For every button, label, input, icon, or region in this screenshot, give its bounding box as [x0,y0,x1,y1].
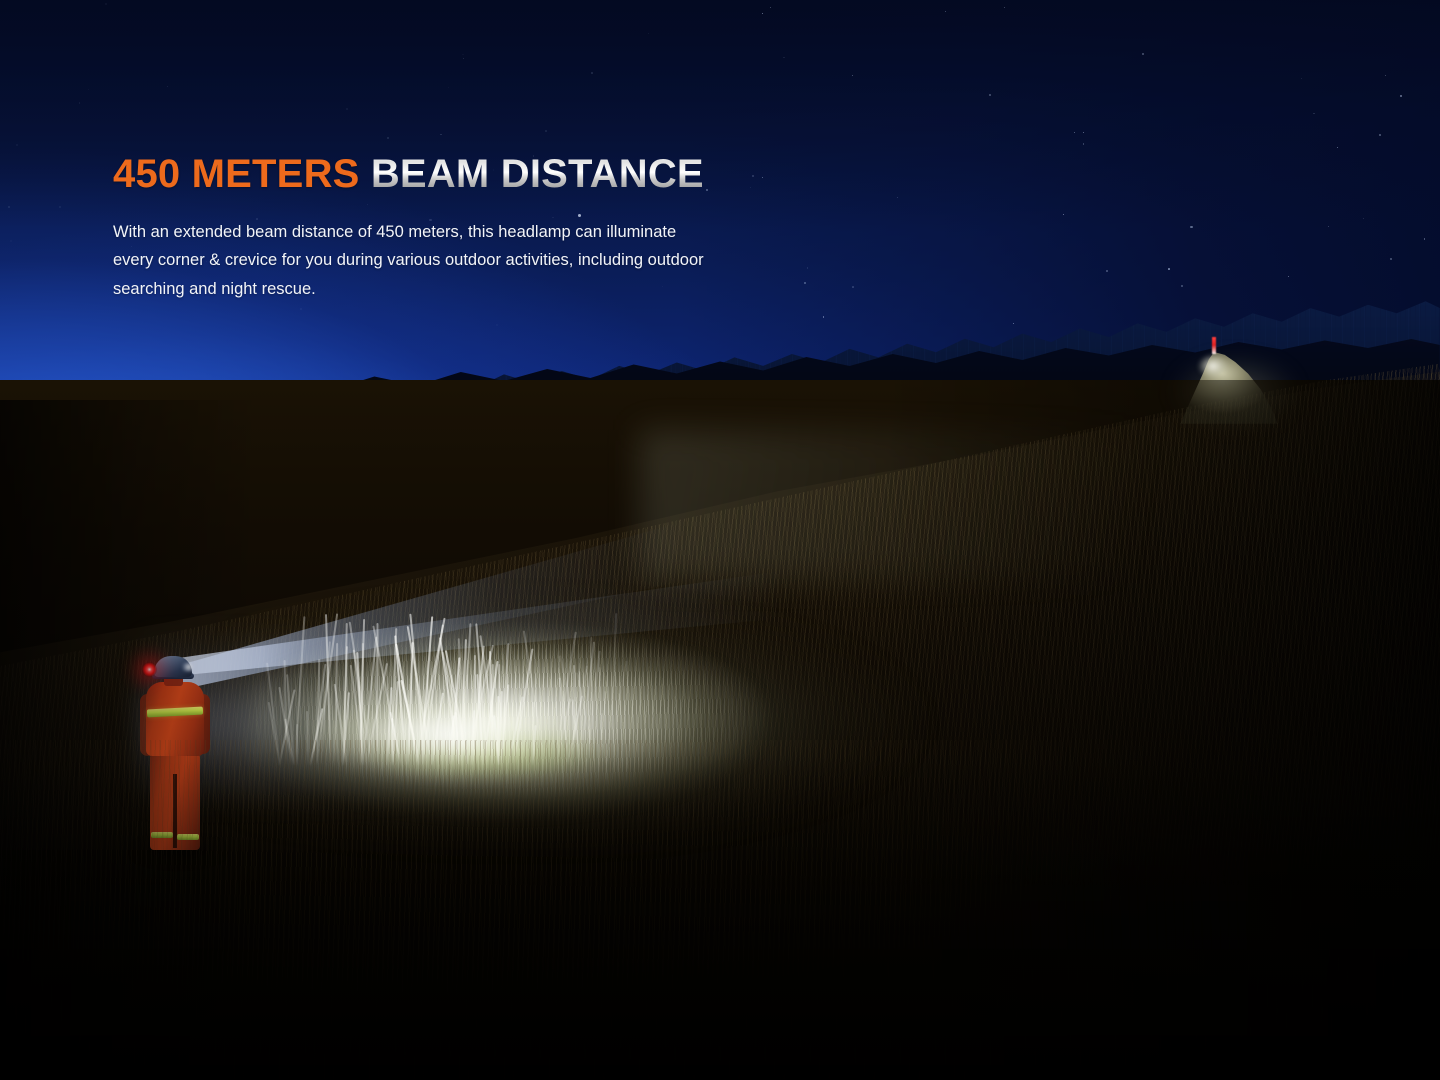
description-line-1: With an extended beam distance of 450 me… [113,218,895,246]
star-icon [1385,75,1386,76]
star-icon [59,206,61,208]
star-icon [1313,113,1315,115]
star-icon [1288,276,1289,277]
star-icon [440,134,442,136]
star-icon [16,144,18,146]
star-icon [300,308,302,310]
star-icon [1301,78,1302,79]
description-text: With an extended beam distance of 450 me… [113,218,895,303]
page-title: 450 METERS BEAM DISTANCE [113,152,913,196]
star-icon [1083,132,1084,133]
star-icon [1013,323,1014,324]
star-icon [1337,147,1338,148]
star-icon [1363,218,1364,219]
star-icon [1328,226,1329,227]
star-icon [1424,238,1426,240]
star-icon [1063,214,1065,216]
star-icon [1190,226,1192,228]
star-icon [1106,270,1108,272]
star-icon [648,33,649,34]
star-icon [1168,268,1170,270]
star-icon [762,13,764,15]
red-flag-marker-icon [1212,337,1216,354]
star-icon [462,54,464,56]
star-icon [1142,53,1144,55]
star-icon [1083,143,1085,145]
star-icon [105,3,107,5]
star-icon [945,11,946,12]
title-rest: BEAM DISTANCE [360,152,704,196]
star-icon [591,72,593,74]
star-icon [496,324,498,326]
star-icon [770,7,771,8]
star-icon [1390,258,1392,260]
star-icon [387,137,389,139]
title-highlight: 450 METERS [113,152,360,196]
star-icon [88,89,90,91]
description-line-3: searching and night rescue. [113,275,895,303]
star-icon [79,102,81,104]
star-icon [989,94,991,96]
star-icon [1379,134,1381,136]
star-icon [1074,132,1075,133]
star-icon [167,86,169,88]
star-icon [463,58,464,59]
star-icon [8,206,10,208]
star-icon [823,316,824,317]
star-icon [783,57,784,58]
hero-banner: 450 METERS BEAM DISTANCE With an extende… [0,0,1440,1080]
star-icon [10,240,12,242]
star-icon [1400,95,1401,96]
mound-lit-peak [1196,352,1230,380]
star-icon [1181,285,1183,287]
description-line-2: every corner & crevice for you during va… [113,246,895,274]
bottom-vignette [0,750,1440,1080]
star-icon [852,75,853,76]
star-icon [346,108,348,110]
star-icon [545,130,547,132]
star-icon [448,87,450,89]
star-icon [1004,7,1005,8]
copy-block: 450 METERS BEAM DISTANCE With an extende… [113,152,913,303]
